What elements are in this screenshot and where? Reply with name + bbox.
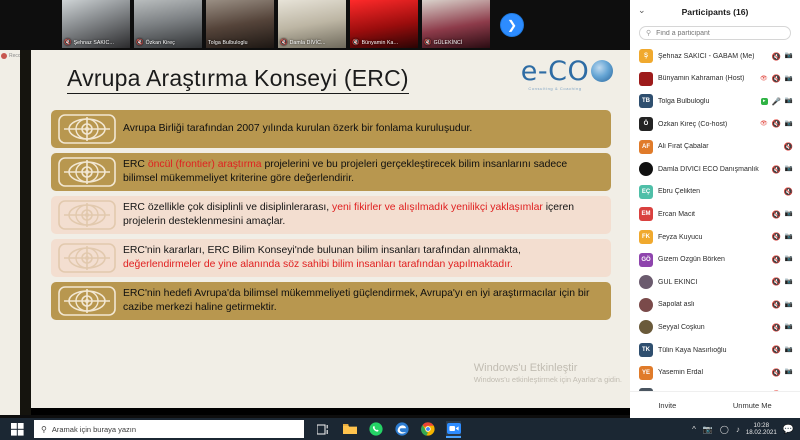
- participant-row[interactable]: Seyyal Coşkun🔇📷: [630, 316, 800, 339]
- participant-name: Özkan Kireç (Co-host): [658, 121, 755, 128]
- participant-name: Ebru Çelikten: [658, 188, 779, 195]
- wifi-icon[interactable]: ◯: [720, 425, 729, 434]
- next-page-arrow-button[interactable]: ❯: [500, 13, 524, 37]
- zoom-icon[interactable]: [446, 421, 461, 438]
- record-dot-icon: [1, 53, 7, 59]
- target-icon: [51, 153, 121, 191]
- participant-row[interactable]: FKFeyza Kuyucu🔇📷: [630, 226, 800, 249]
- participant-status-icons: 🔇: [784, 143, 793, 151]
- video-tile[interactable]: 🔇Özkan Kireç: [134, 0, 202, 48]
- participant-row[interactable]: OMEED AKBAS ALI🔇📷: [630, 384, 800, 391]
- participant-name: Ali Fırat Çabalar: [658, 143, 779, 150]
- participant-status-icons: 🔇📷: [772, 256, 793, 264]
- mic-off-icon[interactable]: 🔇: [772, 53, 781, 61]
- participant-row[interactable]: Bünyamin Kahraman (Host)👁🔇📷: [630, 68, 800, 91]
- slide-bullet: ERC öncül (frontier) araştırma projeleri…: [51, 153, 611, 191]
- body-text: ERC özellikle çok disiplinli ve disiplin…: [123, 202, 332, 213]
- highlighted-text: yeni fikirler ve alışılmadık yenilikçi y…: [332, 202, 543, 213]
- avatar: Ö: [639, 117, 653, 131]
- highlighted-text: öncül (frontier) araştırma: [148, 159, 262, 170]
- slide-bullet-text: Avrupa Birliği tarafından 2007 yılında k…: [121, 110, 611, 148]
- mic-off-icon[interactable]: 🔇: [784, 188, 793, 196]
- slide-bullet: ERC'nin hedefi Avrupa'da bilimsel mükemm…: [51, 282, 611, 320]
- mic-off-icon[interactable]: 🔇: [772, 346, 781, 354]
- camera-icon[interactable]: 📷: [785, 121, 793, 128]
- avatar: TK: [639, 343, 653, 357]
- participants-title: Participants (16): [682, 7, 749, 17]
- taskbar-app-icons: [316, 421, 461, 438]
- participant-row[interactable]: ŞŞehnaz SAKICI - GABAM (Me)🔇📷: [630, 45, 800, 68]
- mic-off-icon[interactable]: 🔇: [772, 278, 781, 286]
- video-tile-name: 🔇Şehnaz SAKIC...: [62, 37, 130, 48]
- volume-icon[interactable]: ♪: [736, 425, 740, 434]
- mic-off-icon: 🔇: [64, 40, 72, 46]
- participant-status-icons: 👁🔇📷: [760, 75, 793, 83]
- mic-off-icon[interactable]: 🔇: [772, 301, 781, 309]
- windows-activation-watermark: Windows'u Etkinleştir Windows'u etkinleş…: [474, 362, 622, 384]
- camera-off-icon[interactable]: 📷: [785, 324, 793, 331]
- mic-off-icon[interactable]: 🔇: [784, 143, 793, 151]
- host-eye-icon: 👁: [760, 76, 768, 82]
- slide-bullet: ERC'nin kararları, ERC Bilim Konseyi'nde…: [51, 239, 611, 277]
- avatar: [639, 162, 653, 176]
- mic-off-icon[interactable]: 🔇: [772, 75, 781, 83]
- video-tile-label: GÜLEKİNCİ: [434, 40, 463, 46]
- slide-bullet-list: Avrupa Birliği tarafından 2007 yılında k…: [51, 110, 611, 325]
- avatar: FK: [639, 230, 653, 244]
- camera-off-icon[interactable]: 📷: [785, 256, 793, 263]
- logo-sphere-icon: [591, 60, 613, 82]
- avatar: [639, 320, 653, 334]
- body-text: ERC'nin hedefi Avrupa'da bilimsel mükemm…: [123, 288, 589, 313]
- mic-off-icon: 🔇: [136, 40, 144, 46]
- participant-name: Damla DİVİCİ ECO Danışmanlık: [658, 166, 767, 173]
- taskbar-clock[interactable]: 10:28 18.02.2021: [746, 422, 777, 436]
- windows-start-icon[interactable]: [0, 418, 34, 440]
- participants-panel: ⌄ Participants (16) ⚲ ŞŞehnaz SAKICI - G…: [630, 0, 800, 418]
- task-view-icon[interactable]: [316, 422, 331, 437]
- invite-button[interactable]: Invite: [646, 398, 688, 413]
- participant-name: Seyyal Coşkun: [658, 324, 767, 331]
- mic-off-icon[interactable]: 🔇: [772, 369, 781, 377]
- participant-status-icons: 🔇: [784, 188, 793, 196]
- body-text: Avrupa Birliği tarafından 2007 yılında k…: [123, 123, 472, 134]
- participant-name: Gizem Özgün Börken: [658, 256, 767, 263]
- taskbar-search-box[interactable]: ⚲ Aramak için buraya yazın: [34, 420, 304, 438]
- video-tile-name: Tolga Bulbuloglu: [206, 37, 274, 48]
- mic-on-icon[interactable]: 🎤: [772, 98, 781, 106]
- search-icon: ⚲: [646, 30, 651, 37]
- participant-row[interactable]: Damla DİVİCİ ECO Danışmanlık🔇📷: [630, 158, 800, 181]
- participant-row[interactable]: AFAli Fırat Çabalar🔇: [630, 135, 800, 158]
- slide-title: Avrupa Araştırma Konseyi (ERC): [67, 65, 409, 94]
- chevron-up-icon[interactable]: ^: [692, 425, 696, 434]
- video-tile[interactable]: 🔇Şehnaz SAKIC...: [62, 0, 130, 48]
- participant-status-icons: 🔇📷: [772, 324, 793, 332]
- participant-status-icons: 🔇📷: [772, 233, 793, 241]
- body-text: ERC'nin kararları, ERC Bilim Konseyi'nde…: [123, 245, 521, 256]
- host-eye-icon: 👁: [760, 121, 768, 127]
- participant-status-icons: 🔇📷: [772, 278, 793, 286]
- video-tile-name: 🔇GÜLEKİNCİ: [422, 37, 490, 48]
- participant-name: Feyza Kuyucu: [658, 234, 767, 241]
- camera-off-icon[interactable]: 📷: [785, 369, 793, 376]
- participant-name: Tolga Bulbuloglu: [658, 98, 756, 105]
- video-thumbnail-strip: 🔇Şehnaz SAKIC...🔇Özkan KireçTolga Bulbul…: [0, 0, 630, 50]
- mic-off-icon: 🔇: [352, 40, 360, 46]
- mic-off-icon: 🔇: [424, 40, 432, 46]
- video-tile[interactable]: 🔇Bünyamin Ka...: [350, 0, 418, 48]
- presentation-slide: Avrupa Araştırma Konseyi (ERC) e-CO Cons…: [31, 50, 630, 408]
- video-tile-name: 🔇Damla DİVİC...: [278, 37, 346, 48]
- strip-left-pad: [0, 0, 62, 50]
- shared-screen-area: Recording Avrupa Araştırma Konseyi (ERC)…: [0, 50, 630, 415]
- mic-off-icon: 🔇: [280, 40, 288, 46]
- slide-bullet-text: ERC özellikle çok disiplinli ve disiplin…: [121, 196, 611, 234]
- speaking-badge: ▸: [761, 98, 768, 105]
- participant-name: GÜL EKİNCİ: [658, 279, 767, 286]
- file-explorer-icon[interactable]: [342, 422, 357, 437]
- camera-off-icon[interactable]: 📷: [785, 302, 793, 309]
- chrome-icon[interactable]: [420, 422, 435, 437]
- camera-off-icon[interactable]: 📷: [785, 279, 793, 286]
- participant-status-icons: 🔇📷: [772, 301, 793, 309]
- video-tile-name: 🔇Özkan Kireç: [134, 37, 202, 48]
- target-icon: [51, 282, 121, 320]
- avatar: [639, 298, 653, 312]
- share-divider: [20, 50, 31, 415]
- slide-bullet: ERC özellikle çok disiplinli ve disiplin…: [51, 196, 611, 234]
- clock-date: 18.02.2021: [746, 429, 777, 436]
- camera-icon[interactable]: 📷: [785, 166, 793, 173]
- watermark-line-1: Windows'u Etkinleştir: [474, 362, 622, 375]
- windows-taskbar: ⚲ Aramak için buraya yazın: [0, 418, 800, 440]
- participant-name: Bünyamin Kahraman (Host): [658, 75, 755, 82]
- participant-status-icons: 👁🔇📷: [760, 120, 793, 128]
- participant-row[interactable]: ÖÖzkan Kireç (Co-host)👁🔇📷: [630, 113, 800, 136]
- participant-status-icons: 🔇📷: [772, 369, 793, 377]
- camera-off-icon[interactable]: 📷: [785, 347, 793, 354]
- whatsapp-icon[interactable]: [368, 422, 383, 437]
- participant-status-icons: ▸🎤📷: [761, 98, 793, 106]
- mic-off-icon[interactable]: 🔇: [772, 233, 781, 241]
- camera-icon[interactable]: 📷: [785, 98, 793, 105]
- video-tile-label: Damla DİVİC...: [290, 40, 326, 46]
- participant-row[interactable]: Sapolat aslı🔇📷: [630, 294, 800, 317]
- video-tile[interactable]: 🔇GÜLEKİNCİ: [422, 0, 490, 48]
- clock-time: 10:28: [746, 422, 777, 429]
- participant-row[interactable]: YEYasemin Erdal🔇📷: [630, 361, 800, 384]
- avatar: GÖ: [639, 253, 653, 267]
- unmute-me-button[interactable]: Unmute Me: [721, 398, 784, 413]
- taskbar-search-placeholder: Aramak için buraya yazın: [52, 425, 136, 434]
- avatar: EÇ: [639, 185, 653, 199]
- participant-row[interactable]: EÇEbru Çelikten🔇: [630, 181, 800, 204]
- slide-bullet-text: ERC öncül (frontier) araştırma projeleri…: [121, 153, 611, 191]
- body-text: ERC: [123, 159, 148, 170]
- participant-list[interactable]: ŞŞehnaz SAKICI - GABAM (Me)🔇📷Bünyamin Ka…: [630, 45, 800, 391]
- target-icon: [51, 110, 121, 148]
- camera-off-icon[interactable]: 📷: [785, 211, 793, 218]
- slide-bullet: Avrupa Birliği tarafından 2007 yılında k…: [51, 110, 611, 148]
- share-left-margin: Recording: [0, 50, 20, 415]
- participant-status-icons: 🔇📷: [772, 211, 793, 219]
- avatar: EM: [639, 207, 653, 221]
- camera-icon[interactable]: 📷: [703, 425, 713, 434]
- participant-search-box[interactable]: ⚲: [639, 26, 791, 40]
- participant-name: Tülin Kaya Nasırlıoğlu: [658, 347, 767, 354]
- camera-off-icon[interactable]: 📷: [785, 76, 793, 83]
- target-icon: [51, 239, 121, 277]
- video-tile[interactable]: 🔇Damla DİVİC...: [278, 0, 346, 48]
- notification-icon[interactable]: 💬: [783, 424, 794, 435]
- participant-name: Yasemin Erdal: [658, 369, 767, 376]
- zoom-meeting-window: 🔇Şehnaz SAKIC...🔇Özkan KireçTolga Bulbul…: [0, 0, 800, 440]
- participant-name: Sapolat aslı: [658, 301, 767, 308]
- participant-status-icons: 🔇📷: [772, 53, 793, 61]
- participant-row[interactable]: TBTolga Bulbuloglu▸🎤📷: [630, 90, 800, 113]
- logo-tagline: Consulting & Coaching: [500, 86, 610, 91]
- mic-off-icon[interactable]: 🔇: [772, 211, 781, 219]
- watermark-line-2: Windows'u etkinleştirmek için Ayarlar'a …: [474, 375, 622, 384]
- target-icon: [51, 196, 121, 234]
- video-tile-name: 🔇Bünyamin Ka...: [350, 37, 418, 48]
- video-tile-label: Şehnaz SAKIC...: [74, 40, 114, 46]
- taskbar-system-tray: ^ 📷 ◯ ♪ 10:28 18.02.2021 💬: [692, 422, 800, 436]
- participant-search-input[interactable]: [654, 29, 784, 38]
- avatar: AF: [639, 140, 653, 154]
- participant-search-wrap: ⚲: [630, 24, 800, 45]
- video-tile-label: Bünyamin Ka...: [362, 40, 399, 46]
- mic-off-icon[interactable]: 🔇: [772, 120, 781, 128]
- slide-bullet-text: ERC'nin hedefi Avrupa'da bilimsel mükemm…: [121, 282, 611, 320]
- participant-row[interactable]: EMErcan Macit🔇📷: [630, 203, 800, 226]
- avatar: Ş: [639, 49, 653, 63]
- participant-row[interactable]: GÖGizem Özgün Börken🔇📷: [630, 248, 800, 271]
- participant-status-icons: 🔇📷: [772, 346, 793, 354]
- avatar: [639, 72, 653, 86]
- video-tile[interactable]: Tolga Bulbuloglu: [206, 0, 274, 48]
- video-tile-label: Tolga Bulbuloglu: [208, 40, 248, 46]
- participant-status-icons: 🔇📷: [772, 166, 793, 174]
- participants-panel-footer: Invite Unmute Me: [630, 391, 800, 418]
- video-tile-label: Özkan Kireç: [146, 40, 175, 46]
- participant-row[interactable]: TKTülin Kaya Nasırlıoğlu🔇📷: [630, 339, 800, 362]
- avatar: [639, 275, 653, 289]
- chevron-down-icon[interactable]: ⌄: [638, 6, 646, 15]
- camera-off-icon[interactable]: 📷: [785, 234, 793, 241]
- camera-icon[interactable]: 📷: [785, 53, 793, 60]
- avatar: TB: [639, 94, 653, 108]
- participants-panel-header: ⌄ Participants (16): [630, 0, 800, 24]
- mic-off-icon[interactable]: 🔇: [772, 166, 781, 174]
- participant-row[interactable]: GÜL EKİNCİ🔇📷: [630, 271, 800, 294]
- highlighted-text: değerlendirmeler de yine alanında söz sa…: [123, 259, 513, 270]
- mic-off-icon[interactable]: 🔇: [772, 256, 781, 264]
- participant-name: Şehnaz SAKICI - GABAM (Me): [658, 53, 767, 60]
- search-icon: ⚲: [41, 425, 47, 434]
- tray-icons: ^ 📷 ◯ ♪: [692, 425, 740, 434]
- edge-icon[interactable]: [394, 422, 409, 437]
- participant-name: Ercan Macit: [658, 211, 767, 218]
- slide-bullet-text: ERC'nin kararları, ERC Bilim Konseyi'nde…: [121, 239, 611, 277]
- mic-off-icon[interactable]: 🔇: [772, 324, 781, 332]
- avatar: YE: [639, 366, 653, 380]
